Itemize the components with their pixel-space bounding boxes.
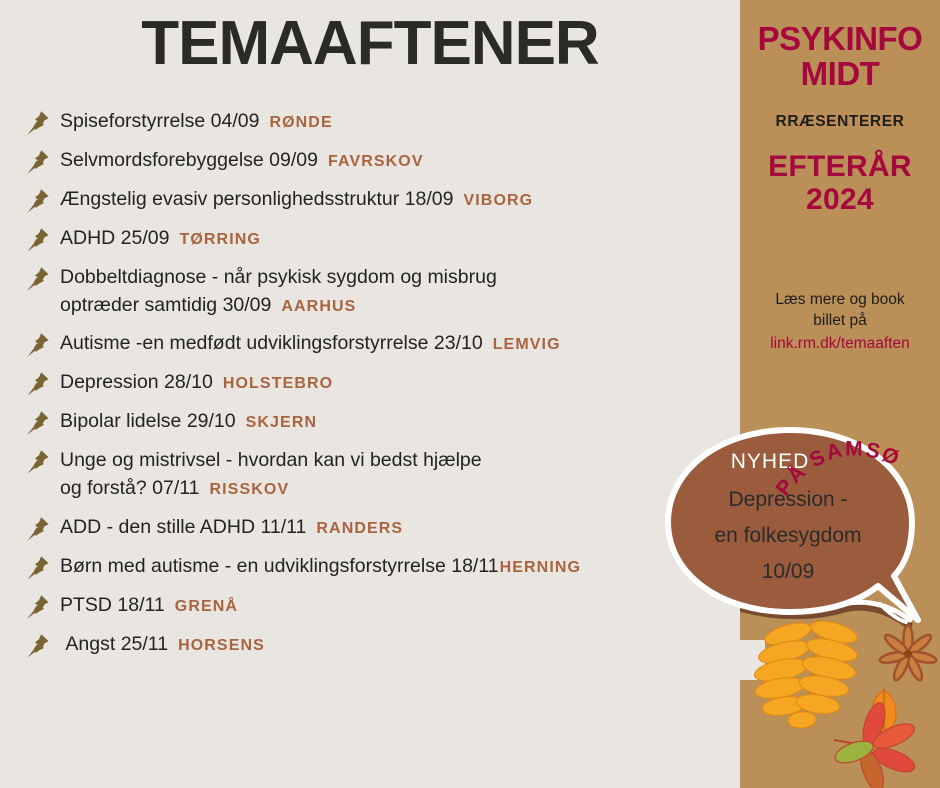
event-city: RANDERS: [316, 520, 403, 537]
event-text: ADHD 25/09TØRRING: [60, 225, 261, 253]
event-row: Depression 28/10HOLSTEBRO: [26, 369, 741, 397]
event-title: ADHD 25/09: [60, 227, 169, 249]
brand-psykinfo: PSYKINFO MIDT: [758, 22, 923, 91]
event-city: HERNING: [500, 559, 581, 576]
event-text: Angst 25/11HORSENS: [60, 631, 265, 659]
pushpin-icon: [26, 555, 50, 581]
brand-line-1: PSYKINFO: [758, 22, 923, 57]
event-title: Dobbeltdiagnose - når psykisk sygdom og …: [60, 266, 497, 316]
pushpin-icon: [26, 449, 50, 475]
event-text: Ængstelig evasiv personlighedsstruktur 1…: [60, 186, 533, 214]
event-row: PTSD 18/11GRENÅ: [26, 592, 741, 620]
event-row: ADHD 25/09TØRRING: [26, 225, 741, 253]
pushpin-icon: [26, 594, 50, 620]
pushpin-icon: [26, 332, 50, 358]
booking-link[interactable]: link.rm.dk/temaaften: [770, 335, 910, 353]
pushpin-icon: [26, 371, 50, 397]
event-row: Dobbeltdiagnose - når psykisk sygdom og …: [26, 264, 741, 319]
event-city: RØNDE: [269, 114, 332, 131]
event-row: Selvmordsforebyggelse 09/09FAVRSKOV: [26, 147, 741, 175]
event-text: ADD - den stille ADHD 11/11RANDERS: [60, 514, 403, 542]
arc-text-label: PÅ SAMSØ: [772, 438, 904, 501]
pushpin-icon: [26, 516, 50, 542]
pushpin-icon: [26, 332, 50, 358]
event-city: AARHUS: [281, 298, 356, 315]
event-city: TØRRING: [179, 231, 260, 248]
pushpin-icon: [26, 449, 50, 475]
pushpin-icon: [26, 410, 50, 436]
pushpin-icon: [26, 227, 50, 253]
season-line-2: 2024: [768, 184, 912, 216]
bubble-line-2: en folkesygdom: [674, 524, 902, 548]
event-row: Angst 25/11HORSENS: [26, 631, 741, 659]
booking-info: Læs mere og book billet på: [775, 290, 904, 332]
event-title: Autisme -en medfødt udviklingsforstyrrel…: [60, 332, 483, 354]
event-text: Unge og mistrivsel - hvordan kan vi beds…: [60, 447, 482, 502]
event-city: RISSKOV: [210, 481, 290, 498]
event-title: ADD - den stille ADHD 11/11: [60, 516, 306, 538]
event-title: Selvmordsforebyggelse 09/09: [60, 149, 318, 171]
booking-info-line-2: billet på: [775, 311, 904, 332]
event-row: ADD - den stille ADHD 11/11RANDERS: [26, 514, 741, 542]
event-city: HORSENS: [178, 637, 265, 654]
event-city: SKJERN: [246, 414, 318, 431]
pushpin-icon: [26, 110, 50, 136]
pushpin-icon: [26, 516, 50, 542]
event-city: VIBORG: [463, 192, 533, 209]
arc-text-pa-samso: PÅ SAMSØ: [780, 428, 940, 518]
event-text: PTSD 18/11GRENÅ: [60, 592, 238, 620]
event-text: Depression 28/10HOLSTEBRO: [60, 369, 333, 397]
pushpin-icon: [26, 188, 50, 214]
event-text: Børn med autisme - en udviklingsforstyrr…: [60, 553, 581, 581]
brand-line-2: MIDT: [758, 57, 923, 92]
event-title: Bipolar lidelse 29/10: [60, 410, 236, 432]
event-title: Ængstelig evasiv personlighedsstruktur 1…: [60, 188, 453, 210]
pushpin-icon: [26, 149, 50, 175]
page-title: TEMAAFTENER: [0, 8, 740, 79]
pushpin-icon: [26, 266, 50, 292]
event-text: Autisme -en medfødt udviklingsforstyrrel…: [60, 330, 561, 358]
pushpin-icon: [26, 371, 50, 397]
pushpin-icon: [26, 149, 50, 175]
pushpin-icon: [26, 110, 50, 136]
event-title: PTSD 18/11: [60, 594, 165, 616]
event-text: Spiseforstyrrelse 04/09RØNDE: [60, 108, 333, 136]
pushpin-icon: [26, 633, 50, 659]
event-text: Dobbeltdiagnose - når psykisk sygdom og …: [60, 264, 497, 319]
event-city: GRENÅ: [175, 598, 238, 615]
event-list: Spiseforstyrrelse 04/09RØNDESelvmordsfor…: [26, 108, 741, 670]
pushpin-icon: [26, 594, 50, 620]
pushpin-icon: [26, 266, 50, 292]
event-text: Bipolar lidelse 29/10SKJERN: [60, 408, 317, 436]
pushpin-icon: [26, 555, 50, 581]
event-row: Unge og mistrivsel - hvordan kan vi beds…: [26, 447, 741, 502]
background-notch: [730, 640, 765, 680]
event-title: Angst 25/11: [60, 633, 168, 655]
event-row: Autisme -en medfødt udviklingsforstyrrel…: [26, 330, 741, 358]
event-row: Ængstelig evasiv personlighedsstruktur 1…: [26, 186, 741, 214]
news-speech-bubble: NYHED Depression - en folkesygdom 10/09 …: [660, 424, 940, 639]
booking-info-line-1: Læs mere og book: [775, 290, 904, 311]
pushpin-icon: [26, 633, 50, 659]
event-row: Spiseforstyrrelse 04/09RØNDE: [26, 108, 741, 136]
event-title: Spiseforstyrrelse 04/09: [60, 110, 259, 132]
event-row: Børn med autisme - en udviklingsforstyrr…: [26, 553, 741, 581]
event-text: Selvmordsforebyggelse 09/09FAVRSKOV: [60, 147, 424, 175]
season-line-1: EFTERÅR: [768, 151, 912, 183]
bubble-line-3: 10/09: [674, 560, 902, 584]
poster-canvas: TEMAAFTENER Spiseforstyrrelse 04/09RØNDE…: [0, 0, 940, 788]
event-title: Børn med autisme - en udviklingsforstyrr…: [60, 555, 499, 577]
event-city: HOLSTEBRO: [223, 375, 333, 392]
pushpin-icon: [26, 227, 50, 253]
season-heading: EFTERÅR 2024: [768, 151, 912, 216]
event-title: Depression 28/10: [60, 371, 213, 393]
event-row: Bipolar lidelse 29/10SKJERN: [26, 408, 741, 436]
presents-label: RRÆSENTERER: [776, 113, 905, 131]
event-city: FAVRSKOV: [328, 153, 424, 170]
sidebar-panel: PSYKINFO MIDT RRÆSENTERER EFTERÅR 2024 L…: [740, 0, 940, 788]
pushpin-icon: [26, 410, 50, 436]
event-city: LEMVIG: [493, 336, 561, 353]
pushpin-icon: [26, 188, 50, 214]
